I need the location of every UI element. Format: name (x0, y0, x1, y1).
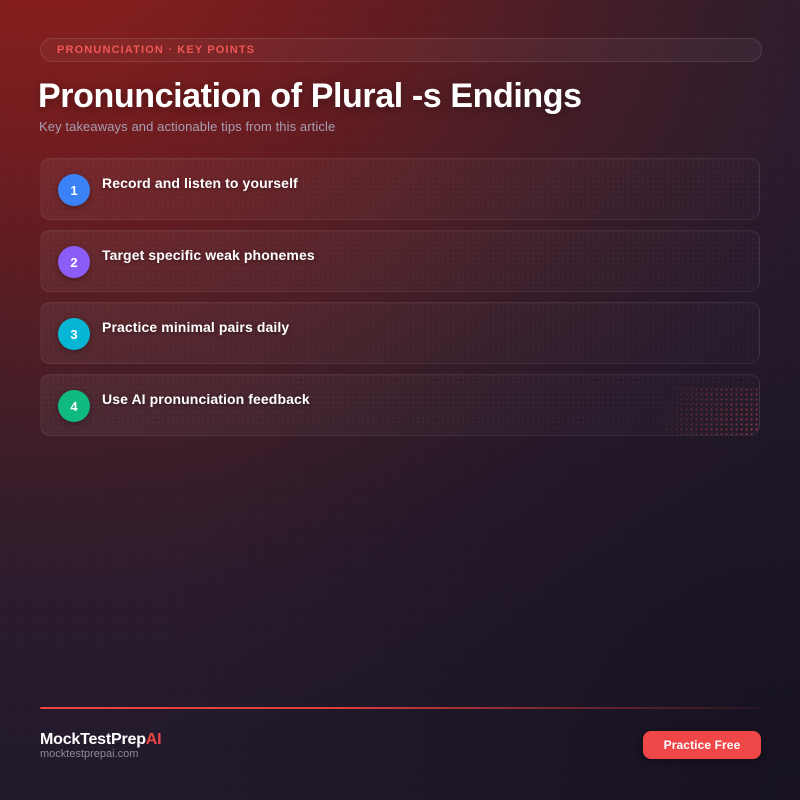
brand-wordmark: MockTestPrepAI (40, 731, 161, 749)
key-point-number-badge: 2 (58, 246, 90, 278)
brand-suffix: AI (146, 731, 162, 748)
key-points-graphic: PRONUNCIATION · KEY POINTS Pronunciation… (0, 0, 800, 800)
key-point-card: 4Use AI pronunciation feedback (40, 374, 760, 436)
page-title: Pronunciation of Plural -s Endings (38, 75, 738, 117)
key-point-label: Record and listen to yourself (102, 175, 735, 191)
key-point-number-badge: 4 (58, 390, 90, 422)
key-point-label: Use AI pronunciation feedback (102, 391, 735, 407)
key-point-card: 1Record and listen to yourself (40, 158, 760, 220)
brand-url: mocktestprepai.com (40, 748, 138, 760)
eyebrow-label: PRONUNCIATION · KEY POINTS (57, 44, 255, 56)
key-point-card: 3Practice minimal pairs daily (40, 302, 760, 364)
key-point-label: Target specific weak phonemes (102, 247, 735, 263)
key-point-label: Practice minimal pairs daily (102, 319, 735, 335)
brand-name: MockTestPrep (40, 731, 146, 748)
key-points-list: 1Record and listen to yourself2Target sp… (40, 158, 760, 446)
practice-free-button[interactable]: Practice Free (643, 731, 761, 759)
page-subtitle: Key takeaways and actionable tips from t… (39, 119, 335, 134)
footer-divider (40, 707, 760, 709)
key-point-number-badge: 1 (58, 174, 90, 206)
key-point-card: 2Target specific weak phonemes (40, 230, 760, 292)
eyebrow-pill: PRONUNCIATION · KEY POINTS (40, 38, 762, 62)
key-point-number-badge: 3 (58, 318, 90, 350)
